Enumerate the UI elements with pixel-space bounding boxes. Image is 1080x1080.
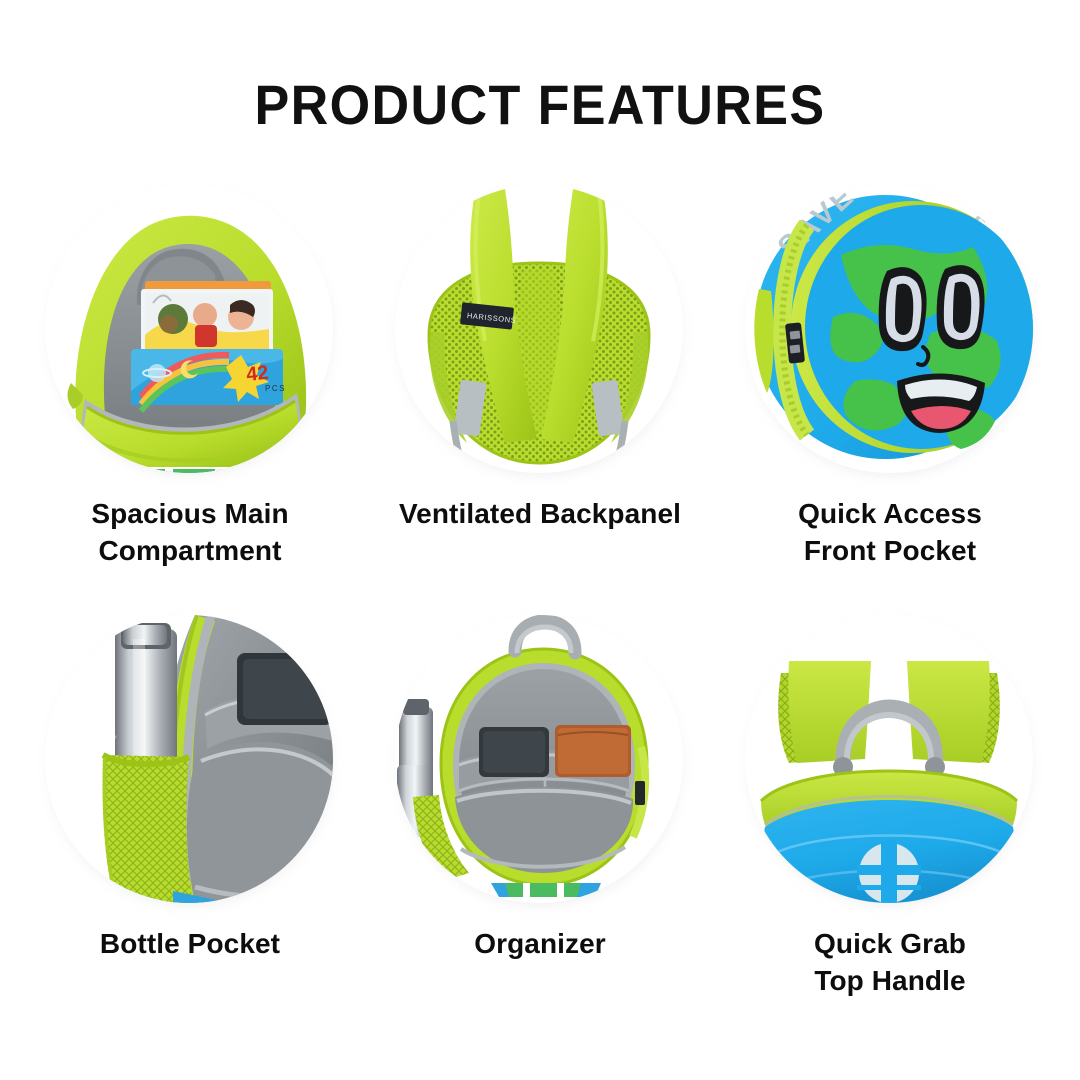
feature-card-ventilated-backpanel: HARISSONS Ventilated Backpanel [360,182,720,533]
photo-clip-circle: SAVE T [745,185,1033,473]
caption-line: Quick Access [710,496,1070,533]
top-handle-illustration [745,615,1033,903]
feature-card-quick-access-front-pocket: SAVE T [710,182,1070,570]
feature-caption: Spacious Main Compartment [10,496,370,570]
caption-line: Top Handle [710,963,1070,1000]
caption-line: Compartment [10,533,370,570]
feature-photo-quick-grab-top-handle [740,612,1040,912]
photo-clip-circle [45,615,333,903]
caption-line: Spacious Main [10,496,370,533]
feature-caption: Bottle Pocket [10,926,370,963]
page-title: PRODUCT FEATURES [38,72,1042,137]
feature-card-organizer: Organizer [360,612,720,963]
features-grid: 42 PCS [0,182,1080,1062]
feature-caption: Quick Grab Top Handle [710,926,1070,1000]
open-backpack-with-books-illustration: 42 PCS [45,185,333,473]
feature-card-spacious-main-compartment: 42 PCS [10,182,370,570]
feature-photo-organizer [390,612,690,912]
feature-caption: Ventilated Backpanel [360,496,720,533]
organizer-interior-illustration [395,615,683,903]
feature-card-quick-grab-top-handle: Quick Grab Top Handle [710,612,1070,1000]
mesh-backpanel-illustration: HARISSONS [395,185,683,473]
product-features-page: PRODUCT FEATURES [0,0,1080,1080]
svg-text:PCS: PCS [265,384,286,393]
feature-photo-spacious-main-compartment: 42 PCS [40,182,340,482]
photo-clip-circle: 42 PCS [45,185,333,473]
feature-card-bottle-pocket: Bottle Pocket [10,612,370,963]
photo-clip-circle: HARISSONS [395,185,683,473]
caption-line: Front Pocket [710,533,1070,570]
photo-clip-circle [745,615,1033,903]
svg-text:42: 42 [245,362,269,386]
feature-photo-bottle-pocket [40,612,340,912]
feature-caption: Organizer [360,926,720,963]
photo-clip-circle [395,615,683,903]
feature-photo-ventilated-backpanel: HARISSONS [390,182,690,482]
bottle-pocket-illustration [45,615,333,903]
feature-photo-quick-access-front-pocket: SAVE T [740,182,1040,482]
caption-line: Bottle Pocket [10,926,370,963]
caption-line: Ventilated Backpanel [360,496,720,533]
caption-line: Organizer [360,926,720,963]
feature-caption: Quick Access Front Pocket [710,496,1070,570]
caption-line: Quick Grab [710,926,1070,963]
earth-face-front-pocket-illustration: SAVE T [745,185,1033,473]
